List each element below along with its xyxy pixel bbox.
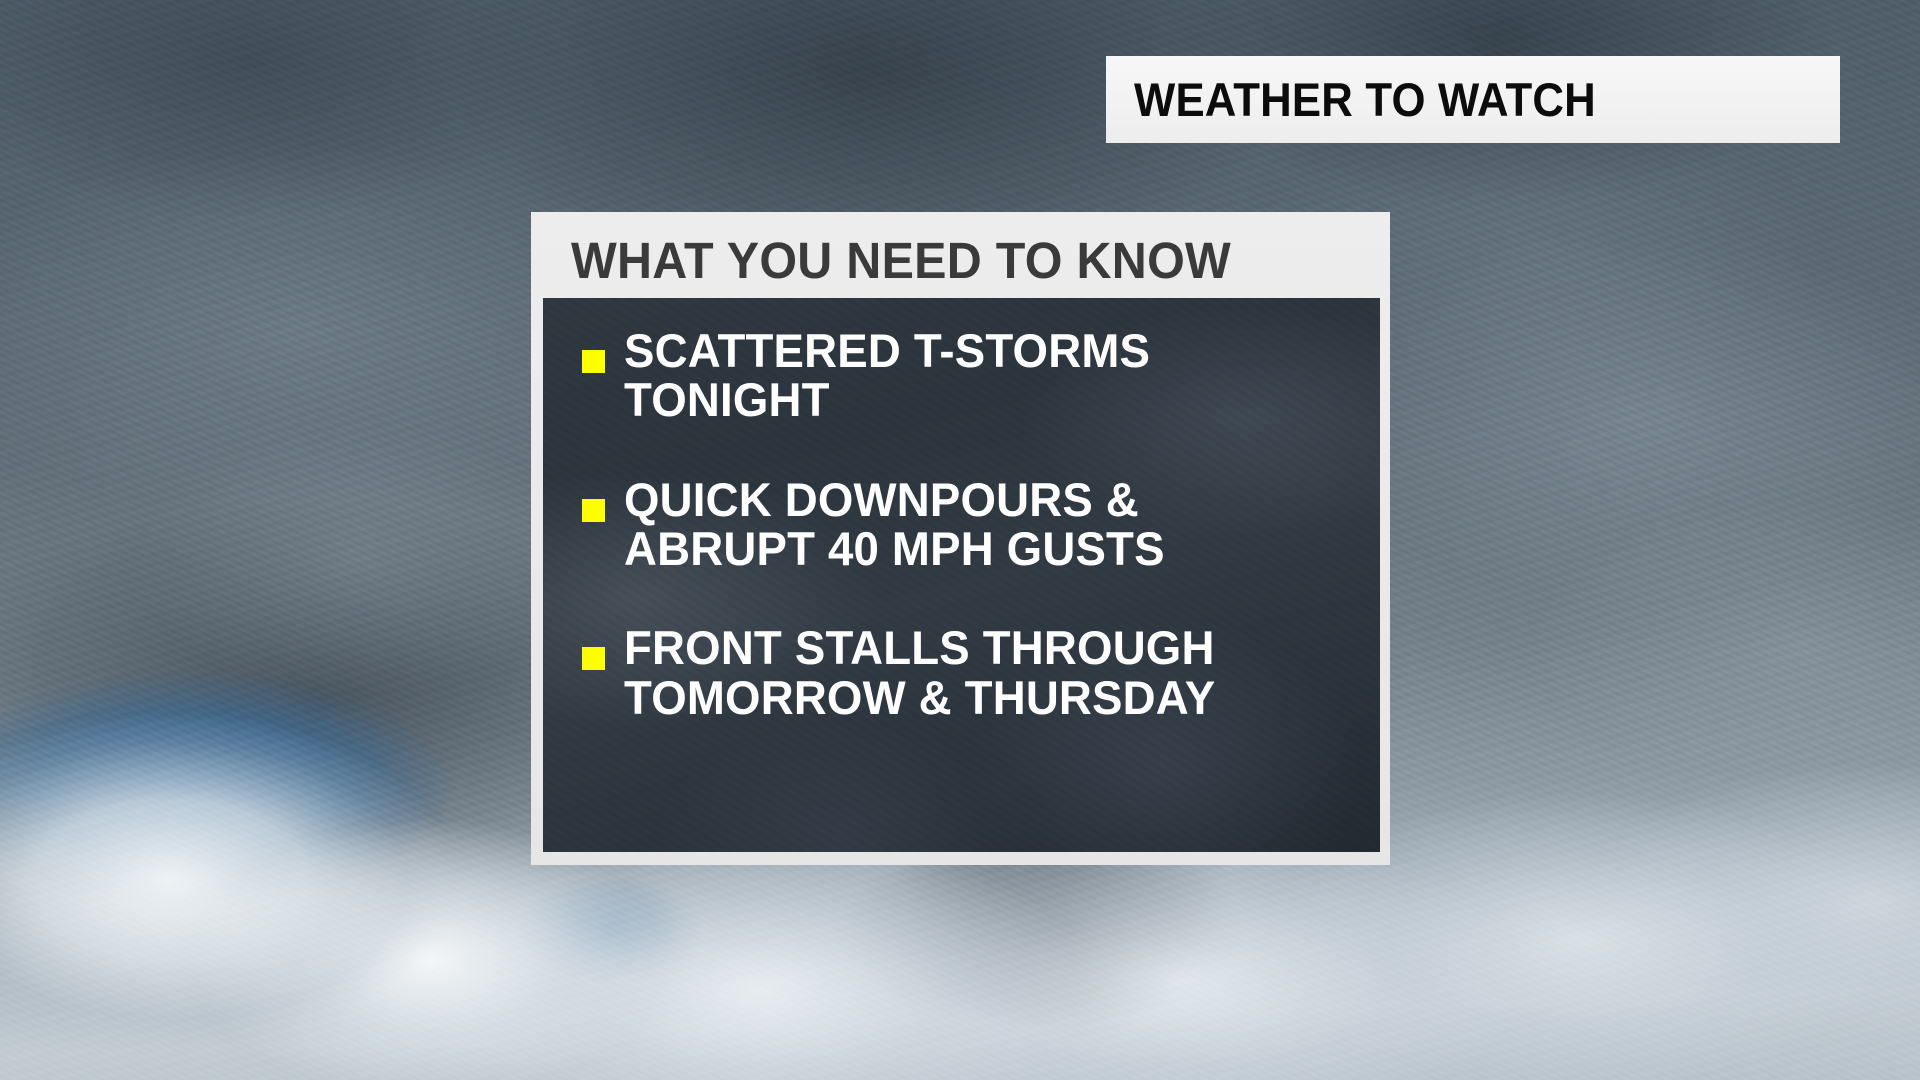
list-item: FRONT STALLS THROUGH TOMORROW & THURSDAY [582,623,1352,722]
card-title: WHAT YOU NEED TO KNOW [571,231,1231,290]
bullet-list: SCATTERED T-STORMS TONIGHT QUICK DOWNPOU… [582,326,1352,722]
list-item: SCATTERED T-STORMS TONIGHT [582,326,1352,425]
bullet-text: SCATTERED T-STORMS TONIGHT [624,326,1330,425]
list-item: QUICK DOWNPOURS & ABRUPT 40 MPH GUSTS [582,475,1352,574]
what-you-need-to-know-card: WHAT YOU NEED TO KNOW SCATTERED T-STORMS… [531,212,1390,865]
weather-to-watch-title: WEATHER TO WATCH [1134,72,1596,127]
bullet-text: FRONT STALLS THROUGH TOMORROW & THURSDAY [624,623,1330,722]
weather-to-watch-banner: WEATHER TO WATCH [1106,56,1840,143]
bullet-text: QUICK DOWNPOURS & ABRUPT 40 MPH GUSTS [624,475,1330,574]
square-bullet-icon [582,647,605,670]
square-bullet-icon [582,350,605,373]
square-bullet-icon [582,499,605,522]
bullet-panel: SCATTERED T-STORMS TONIGHT QUICK DOWNPOU… [543,298,1380,852]
